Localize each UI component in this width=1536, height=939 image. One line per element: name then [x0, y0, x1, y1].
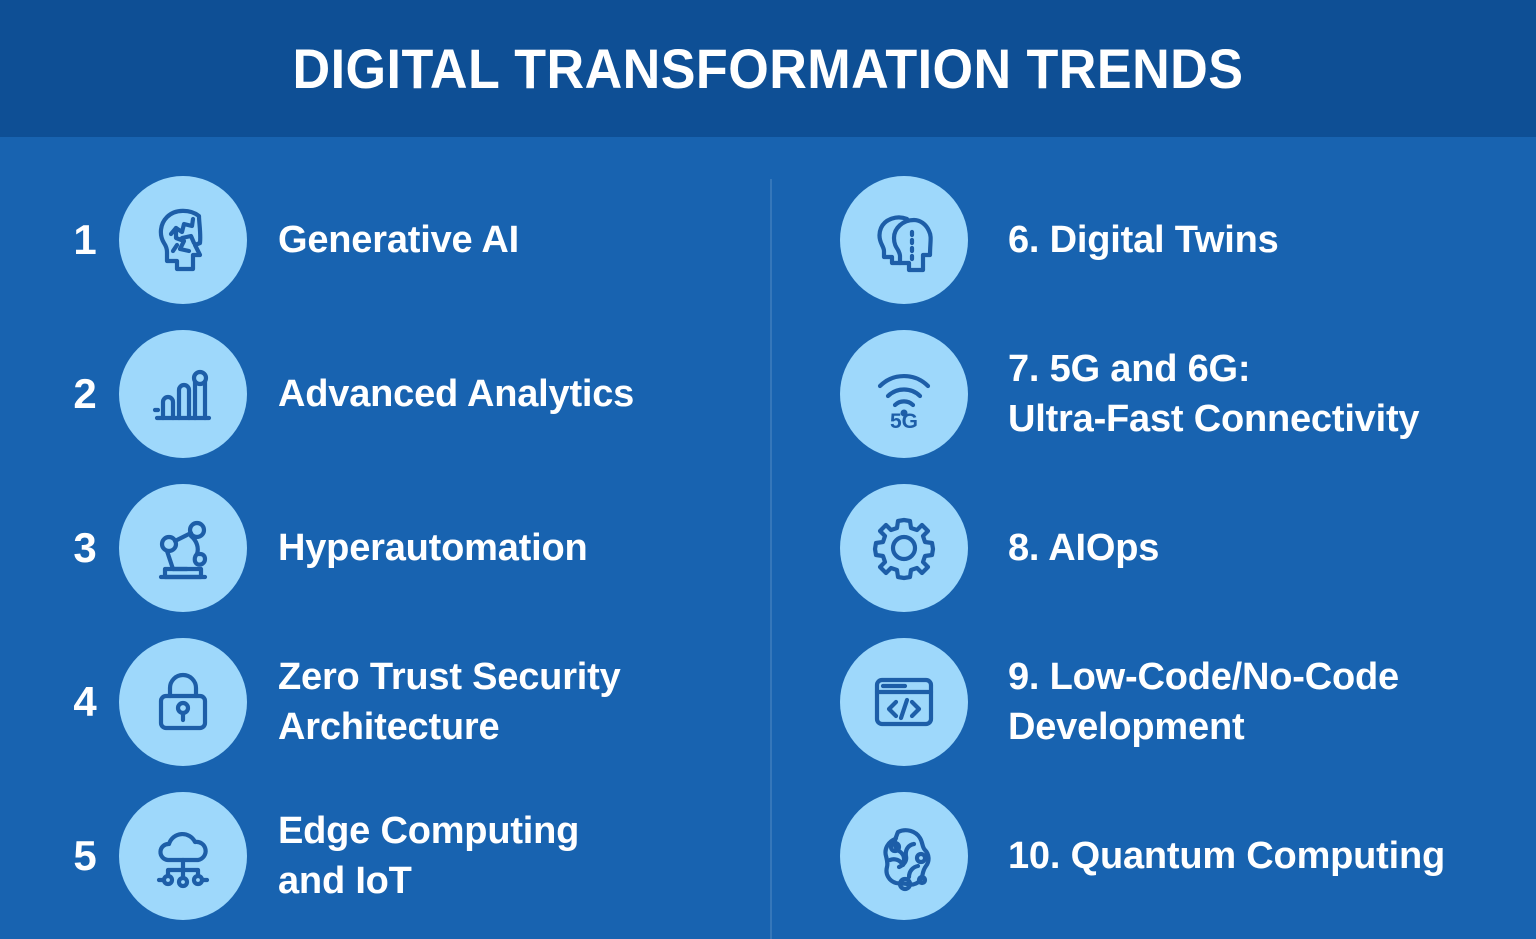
item-label: Zero Trust Security Architecture [278, 625, 748, 779]
list-item[interactable]: 8. AIOps [770, 471, 1536, 625]
list-item[interactable]: 9. Low-Code/No-Code Development [770, 625, 1536, 779]
list-item[interactable]: 10. Quantum Computing [770, 779, 1536, 933]
item-label: 6. Digital Twins [1008, 163, 1528, 317]
item-label: 9. Low-Code/No-Code Development [1008, 625, 1528, 779]
header-band: DIGITAL TRANSFORMATION TRENDS [0, 0, 1536, 137]
item-number: 3 [55, 471, 115, 625]
item-label: Generative AI [278, 163, 748, 317]
robot-arm-icon [119, 484, 247, 612]
list-item[interactable]: 6. Digital Twins [770, 163, 1536, 317]
label-line: 10. Quantum Computing [1008, 831, 1528, 881]
label-line: Architecture [278, 702, 748, 752]
item-number: 2 [55, 317, 115, 471]
page-title: DIGITAL TRANSFORMATION TRENDS [54, 0, 1482, 137]
label-line: Advanced Analytics [278, 369, 748, 419]
label-line: Edge Computing [278, 806, 748, 856]
item-number: 5 [55, 779, 115, 933]
label-line: Development [1008, 702, 1528, 752]
right-column: 6. Digital Twins 5G 7. 5G and 6G: Ultra-… [770, 137, 1536, 939]
label-line: and IoT [278, 856, 748, 906]
label-line: 8. AIOps [1008, 523, 1528, 573]
bar-chart-analytics-icon [119, 330, 247, 458]
item-label: Edge Computing and IoT [278, 779, 748, 933]
padlock-icon [119, 638, 247, 766]
list-item[interactable]: 4 Zero Trust Security Architecture [0, 625, 770, 779]
head-brain-ai-icon [119, 176, 247, 304]
cloud-iot-network-icon [119, 792, 247, 920]
code-window-icon [840, 638, 968, 766]
left-column: 1 Generative AI 2 [0, 137, 770, 939]
wifi-icon-text: 5G [890, 410, 918, 433]
list-item[interactable]: 5G 7. 5G and 6G: Ultra-Fast Connectivity [770, 317, 1536, 471]
item-number: 4 [55, 625, 115, 779]
item-label: 10. Quantum Computing [1008, 779, 1528, 933]
label-line: Generative AI [278, 215, 748, 265]
list-item[interactable]: 1 Generative AI [0, 163, 770, 317]
list-item[interactable]: 3 Hyperautomation [0, 471, 770, 625]
item-label: Hyperautomation [278, 471, 748, 625]
item-label: Advanced Analytics [278, 317, 748, 471]
item-label: 7. 5G and 6G: Ultra-Fast Connectivity [1008, 317, 1528, 471]
label-line: 9. Low-Code/No-Code [1008, 652, 1528, 702]
label-line: Hyperautomation [278, 523, 748, 573]
item-label: 8. AIOps [1008, 471, 1528, 625]
list-item[interactable]: 2 Advanced Analytics [0, 317, 770, 471]
label-line: Ultra-Fast Connectivity [1008, 394, 1528, 444]
quantum-atom-icon [840, 792, 968, 920]
label-line: 7. 5G and 6G: [1008, 344, 1528, 394]
twin-heads-icon [840, 176, 968, 304]
item-number: 1 [55, 163, 115, 317]
wifi-5g-icon: 5G [840, 330, 968, 458]
label-line: 6. Digital Twins [1008, 215, 1528, 265]
trends-content: 1 Generative AI 2 [0, 137, 1536, 939]
gear-icon [840, 484, 968, 612]
list-item[interactable]: 5 Edge Computing and IoT [0, 779, 770, 933]
label-line: Zero Trust Security [278, 652, 748, 702]
